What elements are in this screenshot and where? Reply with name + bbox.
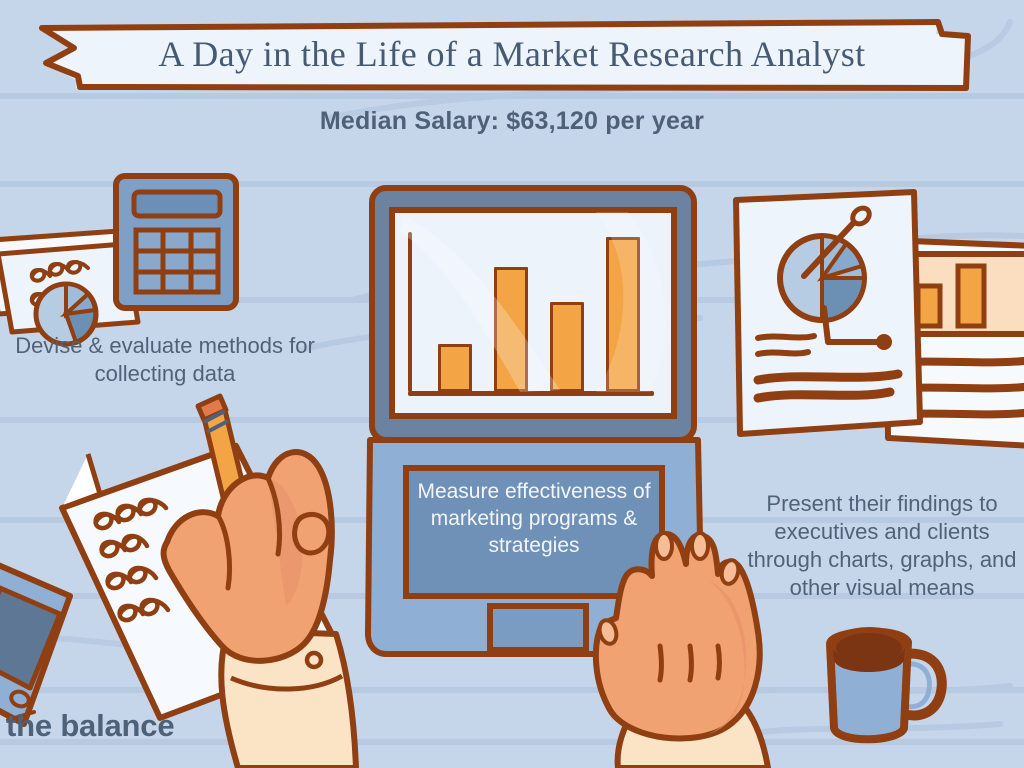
report-paper-pie-chart	[730, 190, 930, 442]
laptop-bar-chart	[408, 212, 658, 392]
chart-bar	[550, 302, 584, 392]
title-banner: A Day in the Life of a Market Research A…	[36, 18, 988, 90]
chart-y-axis	[408, 232, 412, 392]
coffee-mug	[812, 618, 952, 750]
page-title: A Day in the Life of a Market Research A…	[36, 18, 988, 90]
chart-bar	[606, 237, 640, 392]
infographic-canvas: A Day in the Life of a Market Research A…	[0, 0, 1024, 768]
chart-bar	[438, 344, 472, 392]
calculator	[110, 170, 245, 315]
right-hand	[588, 520, 798, 768]
brand-logo: the balance	[6, 708, 174, 744]
caption-devise-methods: Devise & evaluate methods for collecting…	[5, 332, 325, 388]
chart-bar	[494, 267, 528, 392]
